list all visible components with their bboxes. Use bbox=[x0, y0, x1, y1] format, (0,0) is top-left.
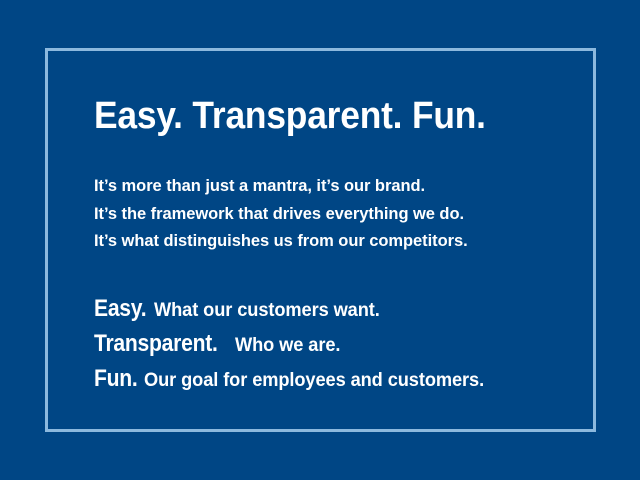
definition-description: Our goal for employees and customers. bbox=[144, 365, 484, 397]
definition-item: Easy.What our customers want. bbox=[94, 293, 564, 328]
definition-term: Easy. bbox=[94, 293, 146, 325]
slide-headline: Easy. Transparent. Fun. bbox=[94, 96, 531, 136]
definition-description: Who we are. bbox=[235, 330, 340, 362]
definition-item: Transparent.Who we are. bbox=[94, 328, 564, 363]
intro-paragraph-line: It’s the framework that drives everythin… bbox=[94, 200, 550, 228]
intro-paragraph: It’s more than just a mantra, it’s our b… bbox=[94, 172, 564, 255]
definition-term: Fun. bbox=[94, 363, 138, 395]
definition-description: What our customers want. bbox=[154, 295, 380, 327]
definition-item: Fun.Our goal for employees and customers… bbox=[94, 363, 564, 398]
definition-term: Transparent. bbox=[94, 328, 218, 360]
definition-list: Easy.What our customers want. Transparen… bbox=[94, 293, 564, 398]
slide-canvas: Easy. Transparent. Fun. It’s more than j… bbox=[0, 0, 640, 480]
intro-paragraph-line: It’s more than just a mantra, it’s our b… bbox=[94, 172, 550, 200]
intro-paragraph-line: It’s what distinguishes us from our comp… bbox=[94, 227, 550, 255]
slide-content: Easy. Transparent. Fun. It’s more than j… bbox=[94, 96, 564, 398]
